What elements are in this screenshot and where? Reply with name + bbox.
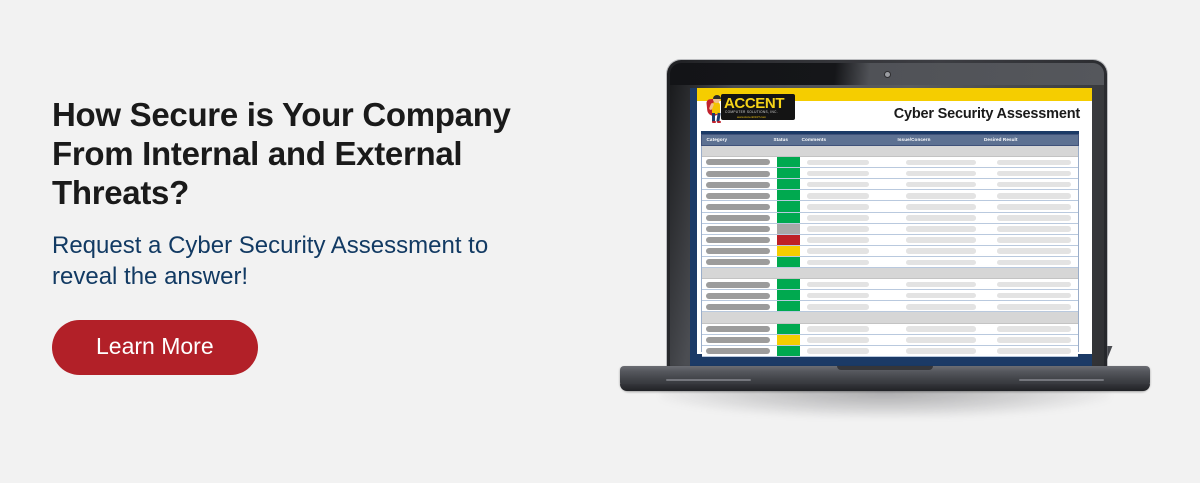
issue-placeholder	[906, 237, 976, 243]
document-title: Cyber Security Assessment	[894, 106, 1080, 122]
status-badge	[777, 213, 800, 223]
table-row	[702, 279, 1078, 290]
laptop-lid: ACCENT COMPUTER SOLUTIONS, INC. www.Acce…	[667, 60, 1107, 372]
comments-placeholder	[807, 282, 869, 288]
comments-placeholder	[807, 260, 869, 266]
result-placeholder	[997, 182, 1071, 188]
result-placeholder	[997, 293, 1071, 299]
table-row	[702, 324, 1078, 335]
assessment-document: ACCENT COMPUTER SOLUTIONS, INC. www.Acce…	[690, 88, 1092, 366]
result-placeholder	[997, 326, 1071, 332]
comments-placeholder	[807, 237, 869, 243]
result-placeholder	[997, 215, 1071, 221]
webcam-icon	[885, 72, 890, 77]
result-placeholder	[997, 171, 1071, 177]
table-body	[701, 146, 1079, 352]
accent-logo: ACCENT COMPUTER SOLUTIONS, INC. www.Acce…	[703, 92, 795, 123]
category-placeholder	[706, 159, 770, 165]
result-placeholder	[997, 337, 1071, 343]
promo-block: How Secure is Your Company From Internal…	[52, 96, 612, 375]
comments-placeholder	[807, 326, 869, 332]
laptop-base-notch	[837, 366, 933, 370]
issue-placeholder	[906, 337, 976, 343]
issue-placeholder	[906, 193, 976, 199]
category-placeholder	[706, 293, 770, 299]
issue-placeholder	[906, 215, 976, 221]
table-column-header: Status	[773, 137, 788, 142]
comments-placeholder	[807, 160, 869, 166]
document-spine	[690, 88, 697, 366]
issue-placeholder	[906, 293, 976, 299]
table-section-band	[702, 312, 1078, 323]
issue-placeholder	[906, 304, 976, 310]
status-badge	[777, 168, 800, 178]
issue-placeholder	[906, 260, 976, 266]
status-badge	[777, 324, 800, 334]
category-placeholder	[706, 304, 770, 310]
status-badge	[777, 290, 800, 300]
category-placeholder	[706, 282, 770, 288]
table-header-row: CategoryStatusCommentsIssue/ConcernDesir…	[701, 134, 1079, 146]
table-row	[702, 290, 1078, 301]
status-badge	[777, 335, 800, 345]
comments-placeholder	[807, 337, 869, 343]
assessment-table: CategoryStatusCommentsIssue/ConcernDesir…	[701, 134, 1079, 352]
status-badge	[777, 179, 800, 189]
table-column-header: Desired Result	[984, 137, 1018, 142]
issue-placeholder	[906, 248, 976, 254]
category-placeholder	[706, 259, 770, 265]
promo-subtext: Request a Cyber Security Assessment to r…	[52, 231, 552, 292]
comments-placeholder	[807, 204, 869, 210]
category-placeholder	[706, 326, 770, 332]
table-column-header: Comments	[802, 137, 827, 142]
laptop-base-highlight-left	[666, 379, 751, 381]
comments-placeholder	[807, 304, 869, 310]
laptop-device: ACCENT COMPUTER SOLUTIONS, INC. www.Acce…	[620, 60, 1150, 400]
comments-placeholder	[807, 248, 869, 254]
learn-more-button[interactable]: Learn More	[52, 320, 258, 375]
page-title: How Secure is Your Company From Internal…	[52, 96, 597, 213]
table-section-band	[702, 146, 1078, 157]
table-row	[702, 168, 1078, 179]
issue-placeholder	[906, 204, 976, 210]
comments-placeholder	[807, 182, 869, 188]
result-placeholder	[997, 226, 1071, 232]
comments-placeholder	[807, 171, 869, 177]
category-placeholder	[706, 204, 770, 210]
table-row	[702, 179, 1078, 190]
status-badge	[777, 257, 800, 267]
status-badge	[777, 279, 800, 289]
laptop-top-bezel	[670, 63, 1104, 85]
result-placeholder	[997, 304, 1071, 310]
status-badge	[777, 246, 800, 256]
table-column-header: Issue/Concern	[898, 137, 931, 142]
category-placeholder	[706, 237, 770, 243]
issue-placeholder	[906, 348, 976, 354]
issue-placeholder	[906, 182, 976, 188]
laptop-bezel: ACCENT COMPUTER SOLUTIONS, INC. www.Acce…	[670, 63, 1104, 369]
category-placeholder	[706, 215, 770, 221]
table-row	[702, 213, 1078, 224]
comments-placeholder	[807, 226, 869, 232]
result-placeholder	[997, 248, 1071, 254]
comments-placeholder	[807, 348, 869, 354]
laptop-base-highlight-right	[1019, 379, 1104, 381]
logo-tagline: COMPUTER SOLUTIONS, INC.	[725, 110, 778, 114]
table-row	[702, 335, 1078, 346]
result-placeholder	[997, 160, 1071, 166]
issue-placeholder	[906, 226, 976, 232]
status-badge	[777, 190, 800, 200]
table-row	[702, 190, 1078, 201]
status-badge	[777, 157, 800, 167]
category-placeholder	[706, 337, 770, 343]
issue-placeholder	[906, 160, 976, 166]
issue-placeholder	[906, 326, 976, 332]
table-row	[702, 224, 1078, 235]
status-badge	[777, 235, 800, 245]
category-placeholder	[706, 182, 770, 188]
category-placeholder	[706, 248, 770, 254]
result-placeholder	[997, 193, 1071, 199]
table-row	[702, 301, 1078, 312]
comments-placeholder	[807, 215, 869, 221]
table-section-band	[702, 268, 1078, 279]
result-placeholder	[997, 348, 1071, 354]
category-placeholder	[706, 193, 770, 199]
table-row	[702, 246, 1078, 257]
category-placeholder	[706, 226, 770, 232]
comments-placeholder	[807, 293, 869, 299]
comments-placeholder	[807, 193, 869, 199]
status-badge	[777, 301, 800, 311]
result-placeholder	[997, 260, 1071, 266]
status-badge	[777, 346, 800, 356]
table-row	[702, 257, 1078, 268]
laptop-base-front	[620, 384, 1150, 391]
table-column-header: Category	[707, 137, 728, 142]
table-row	[702, 235, 1078, 246]
laptop-base	[620, 366, 1150, 391]
status-badge	[777, 224, 800, 234]
result-placeholder	[997, 282, 1071, 288]
table-row	[702, 201, 1078, 212]
result-placeholder	[997, 237, 1071, 243]
issue-placeholder	[906, 282, 976, 288]
result-placeholder	[997, 204, 1071, 210]
status-badge	[777, 201, 800, 211]
category-placeholder	[706, 171, 770, 177]
logo-url: www.AccentOnIT.com	[737, 115, 766, 119]
table-row	[702, 346, 1078, 357]
laptop-screen: ACCENT COMPUTER SOLUTIONS, INC. www.Acce…	[690, 88, 1092, 366]
category-placeholder	[706, 348, 770, 354]
table-row	[702, 157, 1078, 168]
issue-placeholder	[906, 171, 976, 177]
logo-plate: ACCENT COMPUTER SOLUTIONS, INC. www.Acce…	[721, 94, 795, 120]
